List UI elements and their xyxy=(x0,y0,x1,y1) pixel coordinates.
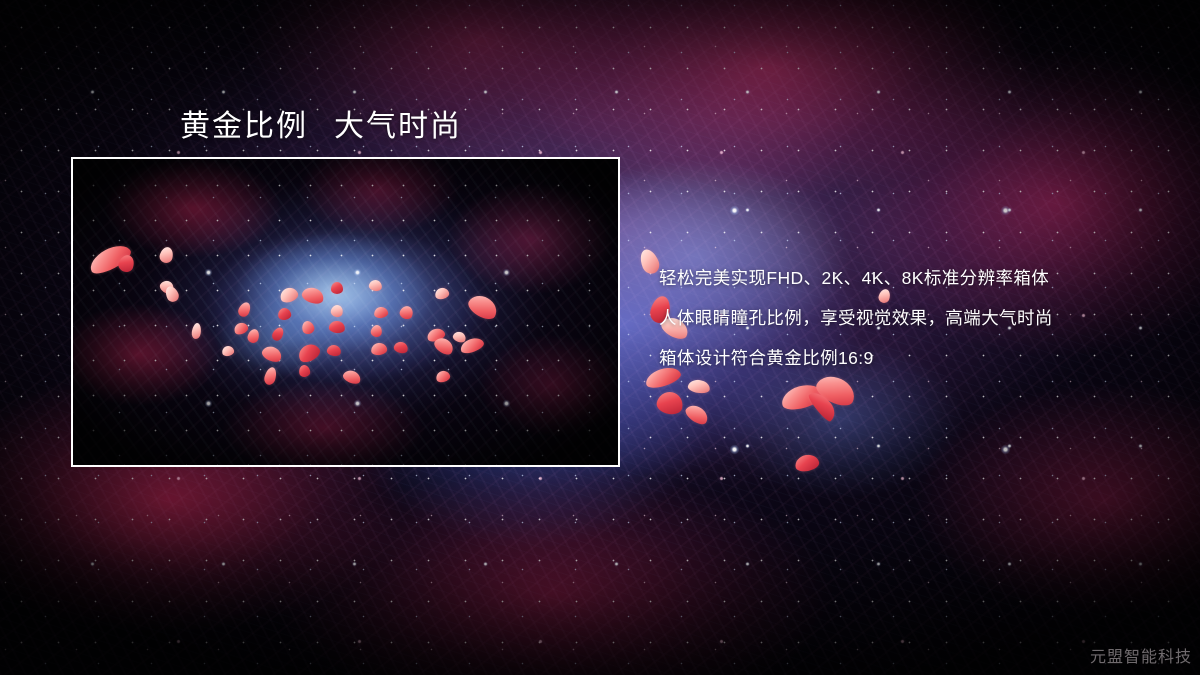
framed-image-content xyxy=(73,159,618,465)
slide-canvas: 黄金比例大气时尚 轻松完美实现FHD、2K、4K、8K标准分辨率箱体 人体眼睛瞳… xyxy=(0,0,1200,675)
page-title-part-one: 黄金比例 xyxy=(180,110,308,143)
petal xyxy=(807,387,840,423)
page-title: 黄金比例大气时尚 xyxy=(180,101,462,145)
petal xyxy=(794,453,821,474)
page-title-part-two: 大气时尚 xyxy=(334,110,462,143)
body-text-line-3: 箱体设计符合黄金比例16:9 xyxy=(659,338,1053,378)
framed-image xyxy=(71,157,620,467)
petal xyxy=(683,402,711,428)
petal xyxy=(687,379,711,395)
petal xyxy=(655,390,685,417)
watermark: 元盟智能科技 xyxy=(1090,643,1192,667)
petal xyxy=(779,381,825,414)
framed-image-vignette xyxy=(73,159,618,465)
body-text-block: 轻松完美实现FHD、2K、4K、8K标准分辨率箱体 人体眼睛瞳孔比例，享受视觉效… xyxy=(659,258,1053,378)
body-text-line-1: 轻松完美实现FHD、2K、4K、8K标准分辨率箱体 xyxy=(659,258,1053,298)
body-text-line-2: 人体眼睛瞳孔比例，享受视觉效果，高端大气时尚 xyxy=(659,298,1053,338)
